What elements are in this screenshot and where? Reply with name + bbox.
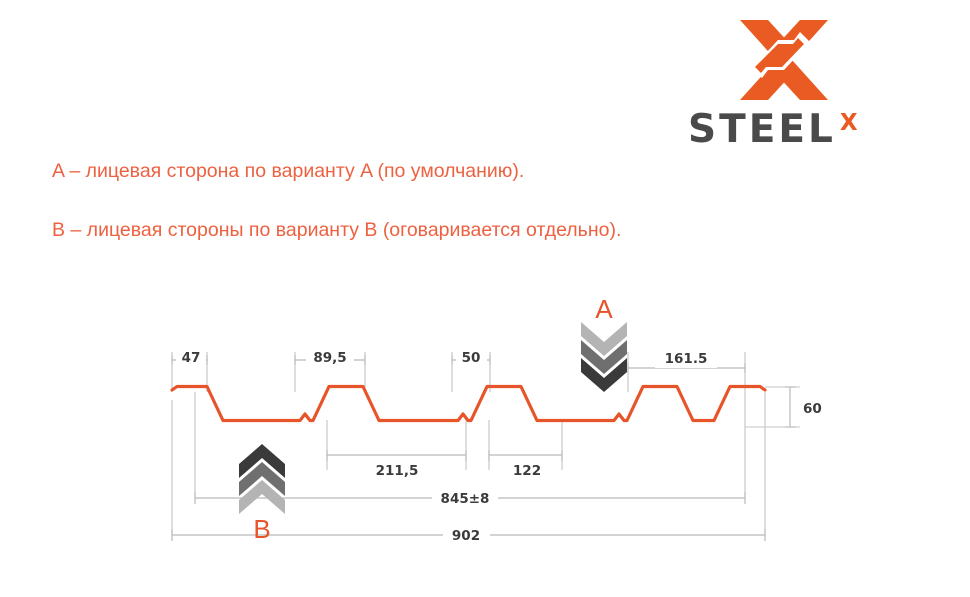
dim-902-label: 902 xyxy=(452,528,480,544)
dim-211-5: 211,5 xyxy=(327,450,466,479)
dim-211-5-label: 211,5 xyxy=(376,463,419,479)
profile-drawing: 47 89,5 50 161.5 211,5 122 xyxy=(0,0,970,597)
marker-b-label: B xyxy=(253,514,270,544)
dim-122-label: 122 xyxy=(513,463,541,479)
dim-47-label: 47 xyxy=(182,350,201,366)
dim-161-5-label: 161.5 xyxy=(665,351,708,367)
dim-60: 60 xyxy=(785,387,822,427)
dim-47: 47 xyxy=(172,349,207,366)
profile-main xyxy=(172,387,765,421)
marker-a-label: A xyxy=(595,294,613,324)
marker-b-chevron-icon xyxy=(239,444,285,514)
marker-a-chevron-icon xyxy=(581,322,627,392)
marker-a: A xyxy=(581,294,627,392)
dim-122: 122 xyxy=(489,450,562,479)
dim-161-5: 161.5 xyxy=(628,350,745,373)
marker-b: B xyxy=(239,444,285,544)
dim-89-5-label: 89,5 xyxy=(313,350,346,366)
dim-89-5: 89,5 xyxy=(295,349,365,366)
dim-845-label: 845±8 xyxy=(441,491,490,507)
witness-lines xyxy=(172,352,800,535)
dim-60-label: 60 xyxy=(803,401,822,417)
dim-50-label: 50 xyxy=(462,350,481,366)
dim-50: 50 xyxy=(452,349,490,366)
